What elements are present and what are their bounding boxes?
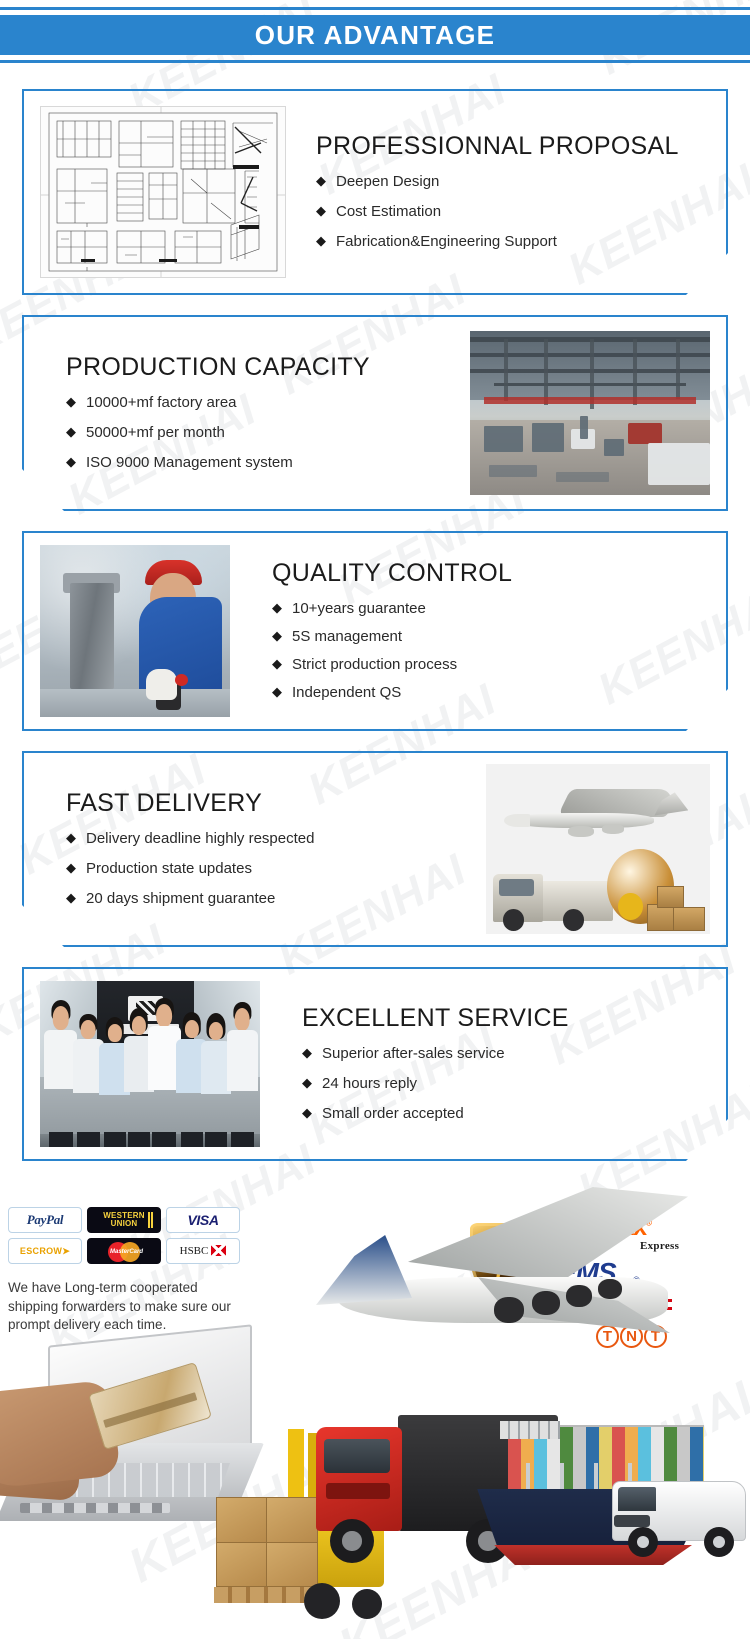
- header-bottom-rule: [0, 60, 750, 63]
- diamond-bullet-icon: ◆: [302, 1075, 312, 1092]
- bullet-text: Delivery deadline highly respected: [86, 830, 314, 848]
- diamond-bullet-icon: ◆: [272, 600, 282, 617]
- hsbc-label: HSBC: [180, 1245, 209, 1257]
- list-item: ◆Production state updates: [66, 860, 486, 878]
- list-item: ◆Fabrication&Engineering Support: [316, 233, 710, 251]
- diamond-bullet-icon: ◆: [272, 656, 282, 673]
- list-item: ◆Delivery deadline highly respected: [66, 830, 486, 848]
- diamond-bullet-icon: ◆: [66, 394, 76, 411]
- page-title: OUR ADVANTAGE: [255, 20, 495, 51]
- cargo-boxes-illustration: [647, 886, 705, 930]
- diamond-bullet-icon: ◆: [66, 830, 76, 847]
- card-text-quality-control: QUALITY CONTROL ◆10+years guarantee ◆5S …: [230, 559, 710, 704]
- list-item: ◆24 hours reply: [302, 1075, 710, 1093]
- header-top-rule: [0, 7, 750, 10]
- header-banner: OUR ADVANTAGE: [0, 15, 750, 55]
- diamond-bullet-icon: ◆: [316, 233, 326, 250]
- card-bullets: ◆Deepen Design ◆Cost Estimation ◆Fabrica…: [316, 173, 710, 251]
- cargo-airplane-illustration: [298, 1179, 738, 1389]
- logistics-scene-image: [0, 1331, 750, 1633]
- bullet-text: Small order accepted: [322, 1105, 464, 1123]
- diamond-bullet-icon: ◆: [302, 1045, 312, 1062]
- list-item: ◆Cost Estimation: [316, 203, 710, 221]
- list-item: ◆Superior after-sales service: [302, 1045, 710, 1063]
- diamond-bullet-icon: ◆: [66, 860, 76, 877]
- list-item: ◆ISO 9000 Management system: [66, 454, 470, 472]
- page-header: OUR ADVANTAGE: [0, 0, 750, 63]
- airplane-illustration: [504, 788, 692, 846]
- white-van-illustration: [612, 1463, 750, 1571]
- quality-inspection-photo: [40, 545, 230, 717]
- list-item: ◆Deepen Design: [316, 173, 710, 191]
- diamond-bullet-icon: ◆: [66, 454, 76, 471]
- list-item: ◆Independent QS: [272, 684, 710, 702]
- paypal-logo: PayPal: [8, 1207, 82, 1233]
- mastercard-logo: MasterCard: [87, 1238, 161, 1264]
- list-item: ◆20 days shipment guarantee: [66, 890, 486, 908]
- blueprint-drawing-image: [40, 106, 286, 278]
- card-title: PRODUCTION CAPACITY: [66, 353, 470, 382]
- diamond-bullet-icon: ◆: [272, 628, 282, 645]
- list-item: ◆Strict production process: [272, 656, 710, 674]
- card-bullets: ◆Delivery deadline highly respected ◆Pro…: [66, 830, 486, 908]
- diamond-bullet-icon: ◆: [302, 1105, 312, 1122]
- card-production-capacity: PRODUCTION CAPACITY ◆10000+mf factory ar…: [22, 315, 728, 511]
- team-group-photo: [40, 981, 260, 1147]
- card-title: EXCELLENT SERVICE: [302, 1004, 710, 1033]
- card-text-fast-delivery: FAST DELIVERY ◆Delivery deadline highly …: [66, 789, 486, 910]
- list-item: ◆10000+mf factory area: [66, 394, 470, 412]
- advantage-page: KEENHAI KEENHAI KEENHAI KEENHAI KEENHAI …: [0, 0, 750, 1639]
- hazard-symbol-icon: [618, 893, 643, 920]
- western-union-logo: WESTERN UNION: [87, 1207, 161, 1233]
- hsbc-hexagon-icon: [211, 1245, 226, 1256]
- card-title: FAST DELIVERY: [66, 789, 486, 818]
- payment-row-1: PayPal WESTERN UNION VISA: [8, 1207, 240, 1233]
- bullet-text: 5S management: [292, 628, 402, 646]
- diamond-bullet-icon: ◆: [66, 890, 76, 907]
- bullet-text: ISO 9000 Management system: [86, 454, 293, 472]
- bullet-text: 24 hours reply: [322, 1075, 417, 1093]
- bullet-text: Cost Estimation: [336, 203, 441, 221]
- air-and-road-freight-image: [486, 764, 710, 934]
- payment-methods-group: PayPal WESTERN UNION VISA ESCROW➤: [8, 1207, 240, 1269]
- list-item: ◆5S management: [272, 628, 710, 646]
- escrow-label: ESCROW: [20, 1246, 62, 1256]
- paypal-label: PayPal: [27, 1212, 63, 1227]
- list-item: ◆50000+mf per month: [66, 424, 470, 442]
- card-text-excellent-service: EXCELLENT SERVICE ◆Superior after-sales …: [260, 1004, 710, 1125]
- card-bullets: ◆10+years guarantee ◆5S management ◆Stri…: [272, 600, 710, 702]
- western-union-bars-icon: [148, 1212, 154, 1228]
- diamond-bullet-icon: ◆: [66, 424, 76, 441]
- mastercard-label: MasterCard: [110, 1249, 143, 1255]
- payment-and-shipping-section: PayPal WESTERN UNION VISA ESCROW➤: [0, 1181, 750, 1633]
- visa-label: VISA: [187, 1212, 218, 1228]
- card-title: PROFESSIONNAL PROPOSAL: [316, 132, 710, 161]
- western-union-line2: UNION: [111, 1219, 138, 1228]
- bullet-text: 10+years guarantee: [292, 600, 426, 618]
- list-item: ◆Small order accepted: [302, 1105, 710, 1123]
- truck-illustration: [493, 859, 618, 930]
- bullet-text: Superior after-sales service: [322, 1045, 505, 1063]
- hsbc-logo: HSBC: [166, 1238, 240, 1264]
- list-item: ◆10+years guarantee: [272, 600, 710, 618]
- card-quality-control: QUALITY CONTROL ◆10+years guarantee ◆5S …: [22, 531, 728, 731]
- bullet-text: Fabrication&Engineering Support: [336, 233, 557, 251]
- shipping-note: We have Long-term cooperated shipping fo…: [8, 1279, 248, 1335]
- card-professional-proposal: PROFESSIONNAL PROPOSAL ◆Deepen Design ◆C…: [22, 89, 728, 295]
- bullet-text: Production state updates: [86, 860, 252, 878]
- card-text-professional-proposal: PROFESSIONNAL PROPOSAL ◆Deepen Design ◆C…: [286, 132, 710, 253]
- escrow-logo: ESCROW➤: [8, 1238, 82, 1264]
- diamond-bullet-icon: ◆: [316, 173, 326, 190]
- advantage-cards: PROFESSIONNAL PROPOSAL ◆Deepen Design ◆C…: [0, 89, 750, 1161]
- bullet-text: 20 days shipment guarantee: [86, 890, 275, 908]
- card-excellent-service: EXCELLENT SERVICE ◆Superior after-sales …: [22, 967, 728, 1161]
- visa-logo: VISA: [166, 1207, 240, 1233]
- bullet-text: Strict production process: [292, 656, 457, 674]
- factory-workshop-photo: [470, 331, 710, 495]
- bullet-text: 10000+mf factory area: [86, 394, 237, 412]
- diamond-bullet-icon: ◆: [272, 684, 282, 701]
- bullet-text: 50000+mf per month: [86, 424, 225, 442]
- escrow-swoosh-icon: ➤: [62, 1246, 70, 1256]
- card-text-production-capacity: PRODUCTION CAPACITY ◆10000+mf factory ar…: [66, 353, 470, 474]
- card-bullets: ◆10000+mf factory area ◆50000+mf per mon…: [66, 394, 470, 472]
- diamond-bullet-icon: ◆: [316, 203, 326, 220]
- payment-row-2: ESCROW➤ MasterCard HSBC: [8, 1238, 240, 1264]
- card-bullets: ◆Superior after-sales service ◆24 hours …: [302, 1045, 710, 1123]
- bullet-text: Independent QS: [292, 684, 401, 702]
- card-title: QUALITY CONTROL: [272, 559, 710, 588]
- card-fast-delivery: FAST DELIVERY ◆Delivery deadline highly …: [22, 751, 728, 947]
- bullet-text: Deepen Design: [336, 173, 439, 191]
